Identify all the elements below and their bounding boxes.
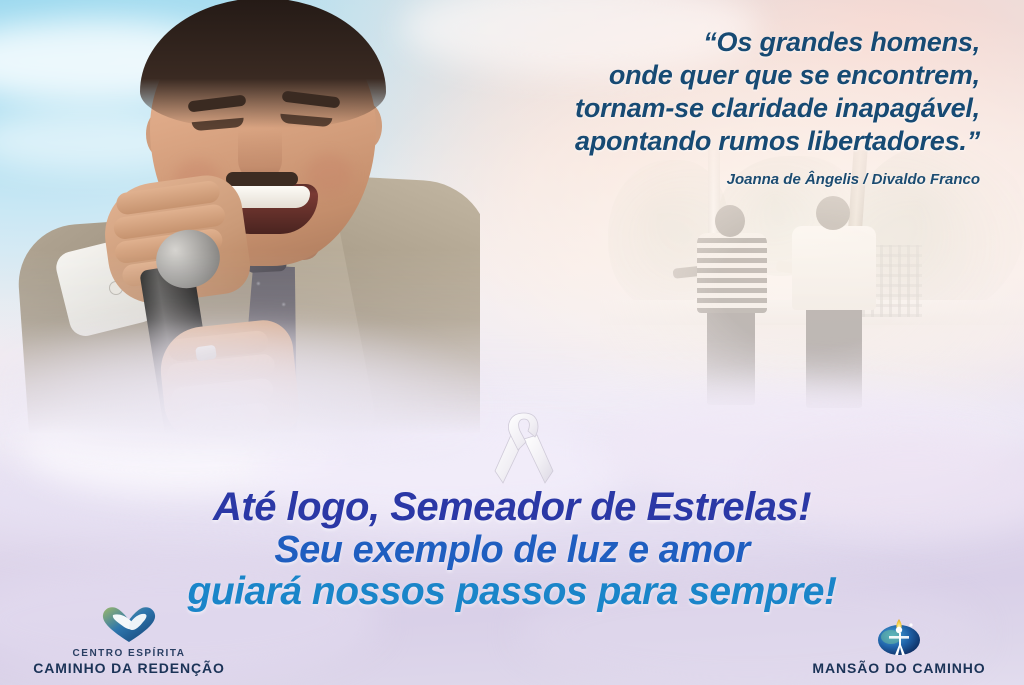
quote-block: “Os grandes homens, onde quer que se enc… bbox=[420, 26, 980, 188]
logo-centro-espirita: CENTRO ESPÍRITA CAMINHO DA REDENÇÃO bbox=[14, 604, 244, 677]
quote-line-3: tornam-se claridade inapagável, bbox=[420, 92, 980, 125]
ground bbox=[600, 325, 1024, 450]
quote-attribution: Joanna de Ângelis / Divaldo Franco bbox=[420, 171, 980, 188]
hands-heart-icon bbox=[100, 604, 158, 644]
headline-block: Até logo, Semeador de Estrelas! Seu exem… bbox=[0, 487, 1024, 613]
logo-mansao-do-caminho: MANSÃO DO CAMINHO bbox=[784, 613, 1014, 677]
globe-figure-flame-icon bbox=[873, 613, 925, 657]
figure-arms bbox=[889, 636, 909, 639]
ribbon-icon bbox=[489, 409, 559, 487]
star bbox=[909, 623, 912, 626]
hair bbox=[140, 0, 386, 128]
ghost-photo-two-people-walking bbox=[600, 150, 1024, 450]
ring bbox=[195, 345, 217, 362]
logo-left-line-1: CENTRO ESPÍRITA bbox=[14, 647, 244, 660]
hand-holding-microphone bbox=[157, 317, 302, 442]
head bbox=[715, 205, 745, 237]
portrait-divaldo-franco bbox=[10, 0, 480, 434]
memorial-poster: “Os grandes homens, onde quer que se enc… bbox=[0, 0, 1024, 685]
logo-right-line-1: MANSÃO DO CAMINHO bbox=[784, 660, 1014, 677]
headline-line-2: Seu exemplo de luz e amor bbox=[0, 531, 1024, 571]
torso bbox=[792, 226, 876, 310]
legs bbox=[707, 309, 755, 405]
torso bbox=[697, 233, 767, 313]
person-striped-shirt bbox=[695, 205, 775, 405]
low-wall bbox=[600, 300, 1024, 330]
fence bbox=[862, 245, 922, 317]
head bbox=[816, 196, 850, 230]
legs bbox=[806, 306, 862, 408]
quote-line-1: “Os grandes homens, bbox=[420, 26, 980, 59]
logo-left-line-2: CAMINHO DA REDENÇÃO bbox=[14, 660, 244, 677]
headline-line-1: Até logo, Semeador de Estrelas! bbox=[0, 487, 1024, 529]
quote-line-4: apontando rumos libertadores.” bbox=[420, 125, 980, 158]
arm bbox=[775, 260, 802, 275]
person-white-shirt bbox=[790, 196, 882, 408]
arm bbox=[673, 265, 708, 278]
quote-line-2: onde quer que se encontrem, bbox=[420, 59, 980, 92]
mustache bbox=[226, 172, 298, 186]
figure-head bbox=[896, 627, 902, 633]
white-mourning-ribbon bbox=[489, 409, 559, 487]
